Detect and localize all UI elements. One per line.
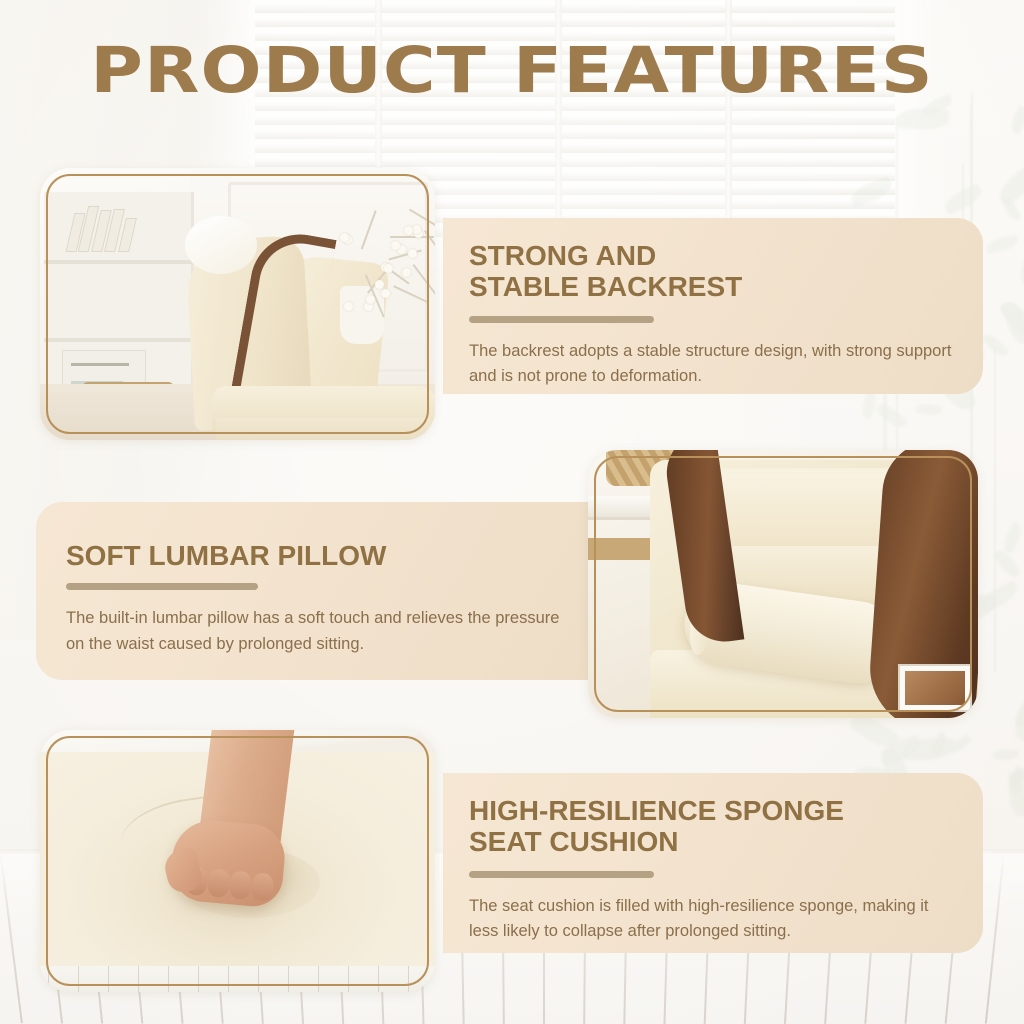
feature-divider-1	[469, 316, 654, 323]
feature-divider-2	[66, 583, 258, 590]
feature-image-seat-cushion	[40, 730, 435, 992]
feature-image-lumbar-pillow	[588, 450, 978, 718]
feature-body-3: The seat cushion is filled with high-res…	[469, 894, 957, 945]
feature-heading-3: HIGH-RESILIENCE SPONGE SEAT CUSHION	[469, 795, 957, 858]
feature-body-2: The built-in lumbar pillow has a soft to…	[66, 606, 570, 657]
feature-panel-soft-lumbar-pillow: SOFT LUMBAR PILLOW The built-in lumbar p…	[36, 502, 596, 680]
feature-heading-2: SOFT LUMBAR PILLOW	[66, 540, 570, 571]
page-title: PRODUCT FEATURES	[0, 34, 1024, 107]
feature-heading-1: STRONG AND STABLE BACKREST	[469, 240, 957, 303]
feature-panel-strong-stable-backrest: STRONG AND STABLE BACKREST The backrest …	[443, 218, 983, 394]
feature-photo-2	[588, 450, 978, 718]
feature-panel-high-resilience-sponge-seat-cushion: HIGH-RESILIENCE SPONGE SEAT CUSHION The …	[443, 773, 983, 953]
feature-photo-1	[40, 168, 435, 440]
feature-photo-3	[40, 730, 435, 992]
feature-divider-3	[469, 871, 654, 878]
feature-image-backrest	[40, 168, 435, 440]
feature-body-1: The backrest adopts a stable structure d…	[469, 339, 957, 390]
